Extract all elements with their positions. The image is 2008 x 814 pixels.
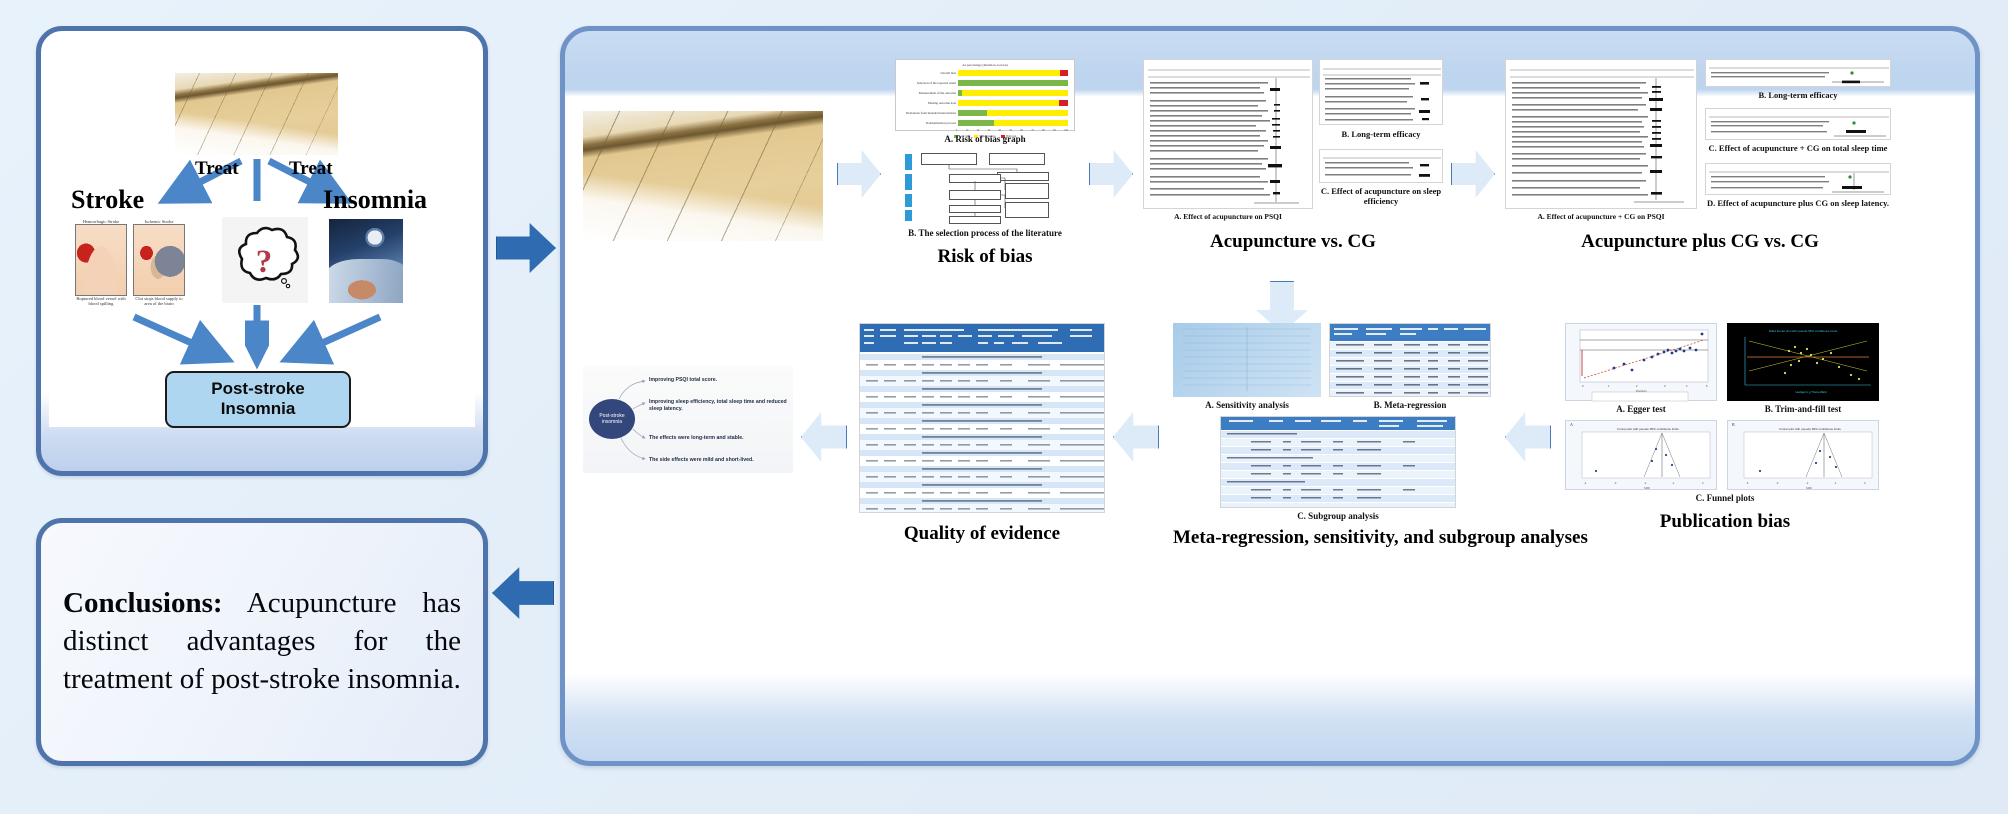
stage-title-acupuncture-plus-cg-vs-cg: Acupuncture plus CG vs. CG	[1505, 231, 1895, 253]
rob-axis-tick: 40	[998, 129, 1001, 132]
funnel-plot-a-index: A	[1570, 422, 1573, 427]
converge-arrow-center	[245, 305, 269, 371]
literature-selection-flow	[901, 150, 1069, 224]
thumb-hemorrhagic-bottom-caption: Ruptured blood vessel with blood spillin…	[75, 296, 127, 306]
subgroup-analysis-table-marks	[1221, 417, 1456, 508]
svg-text:3: 3	[1664, 384, 1666, 388]
treat-label-left: Treat	[195, 158, 239, 180]
arrow-risk-to-acupuncture-vs-cg	[1089, 149, 1133, 199]
svg-text:0: 0	[1864, 481, 1866, 485]
svg-text:1: 1	[1608, 384, 1610, 388]
stage-publication-bias: 012 345 Precision A. Egger test Filled f…	[1565, 323, 1885, 533]
stage-meta-regression-sensitivity-subgroup: A. Sensitivity analysis	[1173, 323, 1503, 549]
treat-label-right: Treat	[289, 158, 333, 180]
rob-row-label: Missing outcome data	[902, 101, 956, 105]
trim-plot-header: Filled funnel plot with pseudo 95% confi…	[1769, 329, 1838, 333]
rob-segment-some	[994, 120, 1068, 126]
caption-acu-plus-cg-long-term: B. Long-term efficacy	[1705, 90, 1891, 100]
caption-meta-regression: B. Meta-regression	[1329, 400, 1491, 410]
arrow-meta-to-quality-of-evidence	[1113, 411, 1159, 463]
question-mark-icon: ?	[228, 223, 302, 297]
rob-axis-tick: 10	[966, 129, 969, 132]
center-arrow-to-question	[245, 159, 269, 207]
overview-panel: Treat Treat Stroke Insomnia Hemorrhagic …	[36, 26, 488, 476]
trim-and-fill-plot: Filled funnel plot with pseudo 95% confi…	[1727, 323, 1879, 401]
meta-regression-table-marks	[1330, 324, 1491, 397]
question-thought-bubble: ?	[222, 217, 308, 303]
svg-text:0: 0	[1702, 481, 1704, 485]
workflow-panel: As percentage (intention-to-treat) Overa…	[560, 26, 1980, 766]
acupuncture-photo-overview	[175, 73, 338, 155]
stage-title-risk-of-bias: Risk of bias	[895, 246, 1075, 268]
risk-of-bias-graph: As percentage (intention-to-treat) Overa…	[895, 59, 1075, 131]
stage-title-publication-bias: Publication bias	[1565, 511, 1885, 533]
svg-text:5: 5	[1706, 384, 1708, 388]
rob-row-bar	[958, 120, 1068, 126]
rob-row-label: Randomization process	[902, 121, 956, 125]
rob-row-bar	[958, 90, 1068, 96]
arrow-publication-to-meta-regression	[1505, 411, 1551, 463]
subgroup-analysis-table	[1220, 416, 1456, 508]
caption-total-sleep-time: C. Effect of acupuncture + CG on total s…	[1705, 143, 1891, 153]
forest-acu-plus-cg-long-term-marks	[1706, 60, 1891, 87]
rob-segment-low	[958, 110, 987, 116]
funnel-plot-a-marks: Funnel plot with pseudo 95% confidence l…	[1566, 421, 1718, 491]
rob-axis-tick: 30	[988, 129, 991, 132]
svg-text:-5: -5	[1746, 481, 1749, 485]
workflow-canvas: As percentage (intention-to-treat) Overa…	[565, 31, 1975, 761]
mindmap-item-2: The effects were long-term and stable.	[649, 435, 789, 441]
meta-regression-table	[1329, 323, 1491, 397]
insomnia-sleep-image	[329, 219, 403, 303]
rob-row-bar	[958, 80, 1068, 86]
thumb-ischemic: Ischemic Stroke Clot stops blood supply …	[133, 219, 185, 307]
rob-row-label: Overall bias	[902, 71, 956, 75]
overview-outbound-arrow	[496, 222, 556, 274]
trim-and-fill-marks: Filled funnel plot with pseudo 95% confi…	[1727, 323, 1879, 401]
egger-test-plot: 012 345 Precision	[1565, 323, 1717, 401]
stage-summary-mindmap: Post-stroke insomnia Improving PSQI tota…	[583, 365, 793, 473]
rob-row-bar	[958, 70, 1068, 76]
caption-trim-and-fill-test: B. Trim-and-fill test	[1727, 404, 1879, 414]
forest-plot-acu-plus-cg-psqi	[1505, 59, 1697, 209]
forest-plot-psqi	[1143, 59, 1313, 209]
thumb-ischemic-bottom-caption: Clot stops blood supply to area of the b…	[133, 296, 185, 306]
arrow-photo-to-risk-of-bias	[837, 149, 881, 199]
caption-risk-of-bias-graph: A. Risk of bias graph	[895, 134, 1075, 144]
caption-acu-plus-cg-psqi: A. Effect of acupuncture + CG on PSQI	[1505, 212, 1697, 221]
post-stroke-insomnia-line1: Post-stroke	[183, 379, 333, 399]
grade-quality-table-marks	[860, 324, 1105, 513]
forest-sleep-efficiency-marks	[1320, 150, 1443, 183]
acupuncture-photo-workflow	[583, 111, 823, 241]
rob-row: Overall bias	[902, 69, 1068, 77]
stage-acupuncture-vs-cg: A. Effect of acupuncture on PSQI	[1143, 59, 1443, 253]
rob-axis-ticks: 0102030405060708090100	[956, 129, 1068, 132]
rob-axis-tick: 20	[977, 129, 980, 132]
rob-row-label: Measurement of the outcome	[902, 91, 956, 95]
stage-acupuncture-photo	[583, 111, 823, 241]
forest-plot-acu-plus-cg-long-term	[1705, 59, 1891, 87]
svg-text:-3: -3	[1776, 481, 1779, 485]
converge-arrow-right	[273, 312, 385, 370]
post-stroke-insomnia-line2: Insomnia	[183, 399, 333, 419]
funnel-plot-b-header: Funnel plot with pseudo 95% confidence l…	[1779, 427, 1841, 431]
converge-arrow-left	[129, 312, 241, 370]
svg-text:-1: -1	[1672, 481, 1675, 485]
forest-plot-long-term-efficacy	[1319, 59, 1443, 125]
thumb-hemorrhagic: Hemorrhagic Stroke Ruptured blood vessel…	[75, 219, 127, 307]
stage-title-quality-of-evidence: Quality of evidence	[859, 523, 1105, 545]
rob-axis-tick: 100	[1064, 129, 1068, 132]
rob-axis-tick: 60	[1020, 129, 1023, 132]
arrow-acu-vs-cg-to-acu-plus-cg	[1451, 149, 1495, 199]
caption-literature-selection: B. The selection process of the literatu…	[895, 228, 1075, 238]
caption-egger-test: A. Egger test	[1565, 404, 1717, 414]
forest-plot-total-sleep-time	[1705, 108, 1891, 140]
caption-effect-acupuncture-psqi: A. Effect of acupuncture on PSQI	[1143, 212, 1313, 221]
rob-row: Randomization process	[902, 119, 1068, 127]
funnel-plot-a: A Funnel plot with pseudo 95% confidence…	[1565, 420, 1717, 490]
rob-row-bar	[958, 100, 1068, 106]
svg-text:0: 0	[1582, 384, 1584, 388]
funnel-plot-b-index: B	[1732, 422, 1735, 427]
rob-segment-some	[958, 100, 1059, 106]
caption-sleep-latency: D. Effect of acupuncture plus CG on slee…	[1705, 198, 1891, 208]
rob-axis-tick: 90	[1053, 129, 1056, 132]
stage-title-meta-regression: Meta-regression, sensitivity, and subgro…	[1173, 527, 1503, 549]
stage-title-acupuncture-vs-cg: Acupuncture vs. CG	[1143, 231, 1443, 253]
rob-row-label: Selection of the reported result	[902, 81, 956, 85]
rob-axis-tick: 70	[1031, 129, 1034, 132]
svg-text:?: ?	[256, 244, 273, 280]
svg-text:-4: -4	[1584, 481, 1587, 485]
overview-inner: Treat Treat Stroke Insomnia Hemorrhagic …	[49, 37, 475, 427]
rob-row-label: Deviations from intended interventions	[902, 111, 956, 115]
insomnia-label: Insomnia	[323, 185, 427, 215]
summary-mindmap: Post-stroke insomnia Improving PSQI tota…	[583, 365, 793, 473]
stage-risk-of-bias: As percentage (intention-to-treat) Overa…	[895, 59, 1075, 268]
sensitivity-analysis-plot	[1173, 323, 1321, 397]
svg-text:4: 4	[1686, 384, 1688, 388]
rob-row: Measurement of the outcome	[902, 89, 1068, 97]
sensitivity-analysis-marks	[1173, 323, 1321, 397]
forest-plot-sleep-efficiency	[1319, 149, 1443, 183]
rob-axis-tick: 50	[1009, 129, 1012, 132]
conclusions-lead: Conclusions:	[63, 587, 223, 619]
svg-text:2: 2	[1636, 384, 1638, 388]
rob-row-bar	[958, 110, 1068, 116]
caption-funnel-plots: C. Funnel plots	[1565, 493, 1885, 503]
svg-text:-1: -1	[1834, 481, 1837, 485]
svg-text:-2: -2	[1806, 481, 1809, 485]
rob-segment-low	[958, 120, 994, 126]
mindmap-item-1: Improving sleep efficiency, total sleep …	[649, 399, 791, 413]
stroke-label: Stroke	[71, 185, 144, 215]
rob-row: Selection of the reported result	[902, 79, 1068, 87]
conclusions-panel: Conclusions: Acupuncture has distinct ad…	[36, 518, 488, 766]
brain-hemorrhagic-image	[75, 224, 127, 296]
conclusions-inbound-arrow	[492, 566, 554, 620]
forest-acu-plus-cg-psqi-marks	[1506, 60, 1697, 209]
funnel-plot-b: B Funnel plot with pseudo 95% confidence…	[1727, 420, 1879, 490]
mindmap-item-0: Improving PSQI total score.	[649, 377, 789, 383]
rob-row: Missing outcome data	[902, 99, 1068, 107]
stage-acupuncture-plus-cg-vs-cg: A. Effect of acupuncture + CG on PSQI B.…	[1505, 59, 1895, 253]
caption-sleep-efficiency: C. Effect of acupuncture on sleep effici…	[1319, 186, 1443, 206]
egger-test-marks: 012 345 Precision	[1566, 324, 1718, 402]
rob-axis-tick: 0	[956, 129, 957, 132]
funnel-plot-a-header: Funnel plot with pseudo 95% confidence l…	[1617, 427, 1679, 431]
caption-long-term-efficacy: B. Long-term efficacy	[1319, 129, 1443, 139]
rob-rows: Overall biasSelection of the reported re…	[900, 69, 1070, 127]
forest-plot-sleep-latency	[1705, 163, 1891, 195]
stage-quality-of-evidence: Quality of evidence	[859, 323, 1105, 545]
post-stroke-insomnia-box: Post-stroke Insomnia	[165, 371, 351, 428]
conclusions-text: Conclusions: Acupuncture has distinct ad…	[41, 585, 483, 698]
rob-segment-high	[1060, 70, 1068, 76]
rob-segment-some	[958, 70, 1060, 76]
mindmap-item-3: The side effects were mild and short-liv…	[649, 457, 791, 463]
svg-text:-3: -3	[1614, 481, 1617, 485]
rob-segment-some	[987, 110, 1068, 116]
funnel-plot-b-marks: Funnel plot with pseudo 95% confidence l…	[1728, 421, 1880, 491]
svg-text:SMD: SMD	[1806, 486, 1812, 490]
caption-subgroup-analysis: C. Subgroup analysis	[1173, 511, 1503, 521]
flow-connectors	[901, 150, 1069, 224]
rob-segment-high	[1059, 100, 1068, 106]
rob-segment-some	[962, 90, 1068, 96]
forest-plot-psqi-marks	[1144, 60, 1313, 209]
forest-total-sleep-time-marks	[1706, 109, 1891, 140]
arrow-quality-to-summary	[801, 411, 847, 463]
rob-chart-title: As percentage (intention-to-treat)	[900, 63, 1070, 67]
thumb-hemorrhagic-top-caption: Hemorrhagic Stroke	[75, 219, 127, 224]
svg-text:-2: -2	[1644, 481, 1647, 485]
svg-text:Hedges's g Theta-Wald: Hedges's g Theta-Wald	[1795, 390, 1826, 394]
grade-quality-table	[859, 323, 1105, 513]
left-column: Treat Treat Stroke Insomnia Hemorrhagic …	[36, 26, 488, 766]
rob-row: Deviations from intended interventions	[902, 109, 1068, 117]
rob-segment-low	[958, 80, 1068, 86]
stroke-thumbnails: Hemorrhagic Stroke Ruptured blood vessel…	[75, 219, 185, 307]
caption-sensitivity-analysis: A. Sensitivity analysis	[1173, 400, 1321, 410]
svg-text:SMD: SMD	[1644, 486, 1650, 490]
forest-sleep-latency-marks	[1706, 164, 1891, 195]
forest-long-term-marks	[1320, 60, 1443, 125]
rob-axis-tick: 80	[1042, 129, 1045, 132]
brain-ischemic-image	[133, 224, 185, 296]
